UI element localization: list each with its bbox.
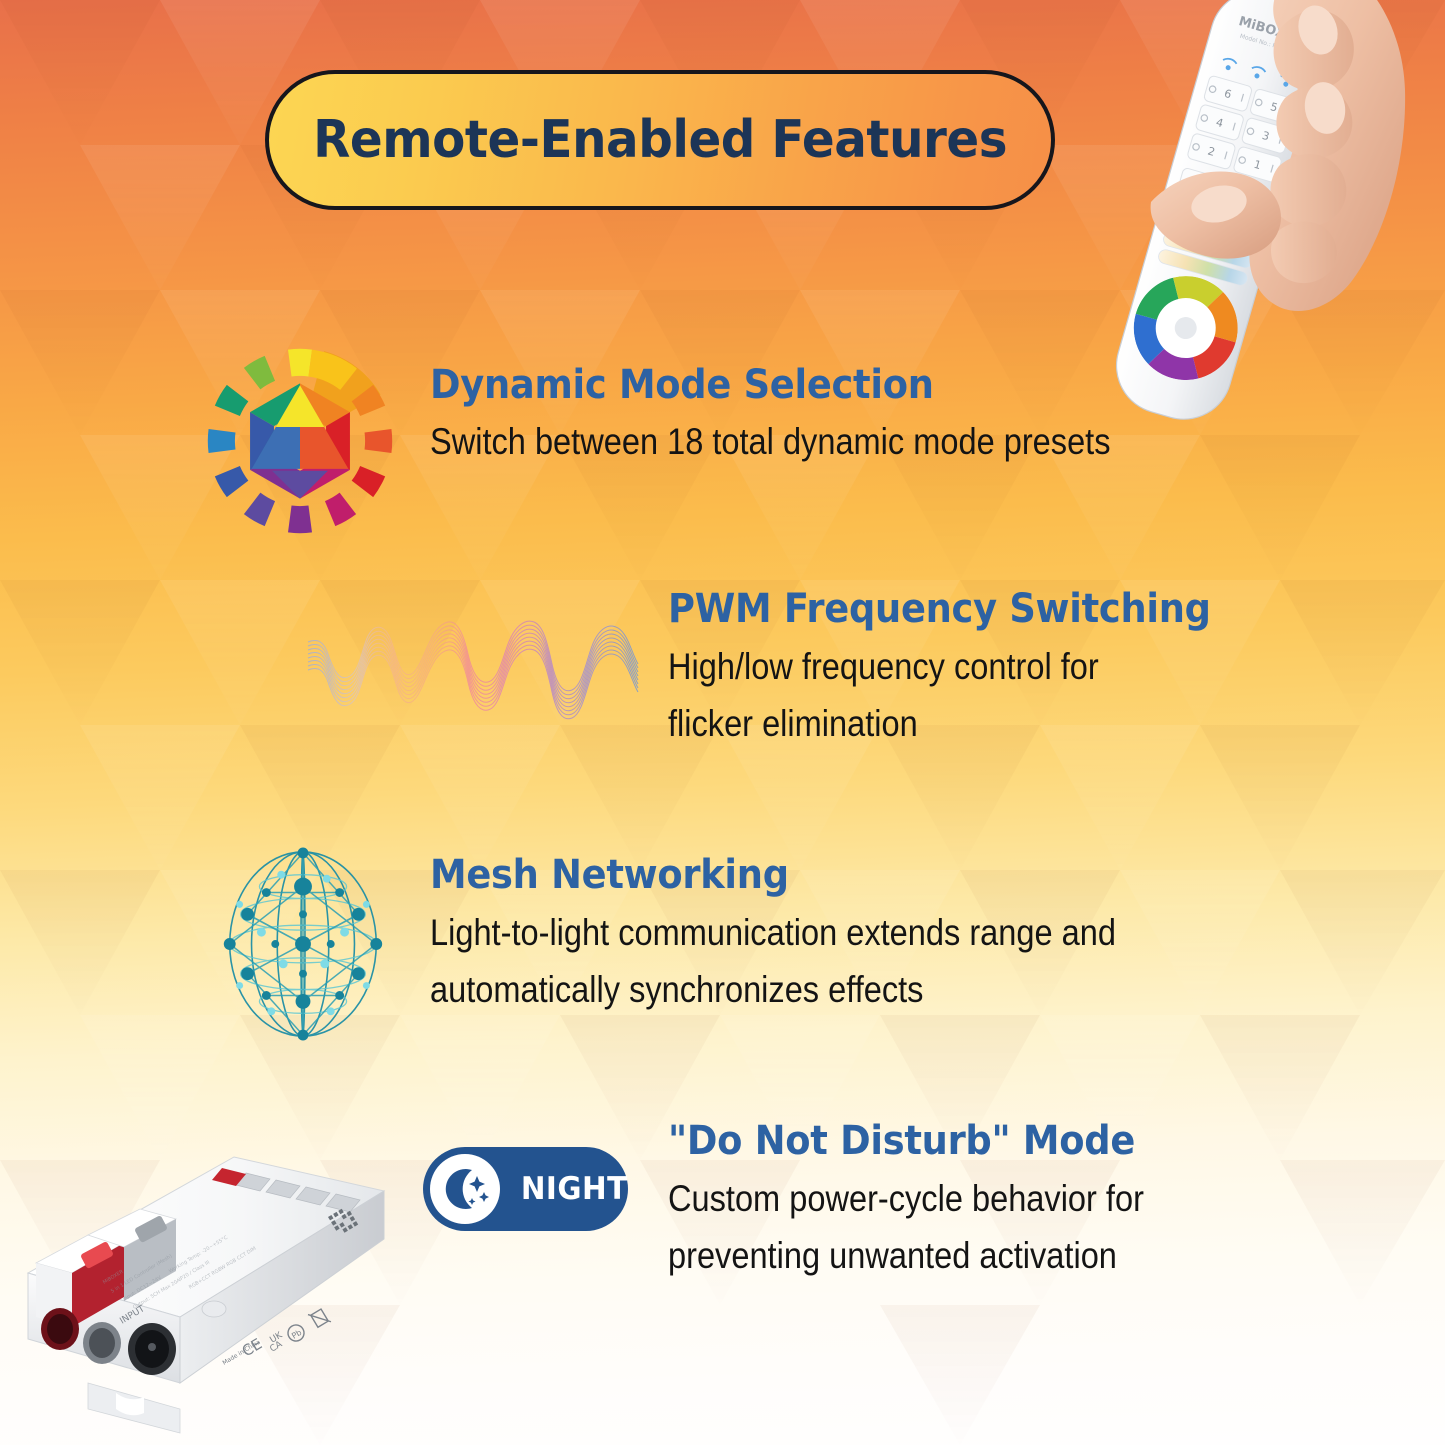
led-controller-module-photo: MiBOXER 5 in 1 LED Controller (Mesh) Inp… xyxy=(0,1121,404,1451)
feature-pwm-frequency-switching: PWM Frequency Switching High/low frequen… xyxy=(668,586,1258,745)
feature-body-line1: Light-to-light communication extends ran… xyxy=(430,911,1116,955)
waveform-icon xyxy=(302,606,652,734)
feature-heading: Mesh Networking xyxy=(430,852,1147,898)
feature-body-line2: automatically synchronizes effects xyxy=(430,968,1116,1012)
feature-do-not-disturb-mode: "Do Not Disturb" Mode Custom power-cycle… xyxy=(668,1118,1209,1277)
feature-heading: "Do Not Disturb" Mode xyxy=(668,1118,1166,1164)
night-toggle-icon: NIGHT xyxy=(423,1147,628,1231)
mesh-sphere-icon xyxy=(204,845,402,1043)
feature-body-line1: Custom power-cycle behavior for xyxy=(668,1177,1144,1221)
handheld-rgb-remote-photo: MiBOXER Model No.: FUT089 65 43 21 xyxy=(1033,0,1445,420)
feature-body-line2: preventing unwanted activation xyxy=(668,1234,1144,1278)
feature-body-line1: High/low frequency control for xyxy=(668,645,1187,689)
toggle-knob xyxy=(430,1154,500,1224)
page-title: Remote-Enabled Features xyxy=(313,110,1007,170)
feature-heading: PWM Frequency Switching xyxy=(668,586,1211,632)
color-wheel-icon xyxy=(207,348,393,534)
page-title-banner: Remote-Enabled Features xyxy=(265,70,1055,210)
feature-body: Switch between 18 total dynamic mode pre… xyxy=(430,420,1111,464)
night-label: NIGHT xyxy=(521,1171,628,1207)
crescent-moon-icon xyxy=(430,1154,500,1224)
feature-body-line2: flicker elimination xyxy=(668,702,1187,746)
feature-mesh-networking: Mesh Networking Light-to-light communica… xyxy=(430,852,1210,1011)
